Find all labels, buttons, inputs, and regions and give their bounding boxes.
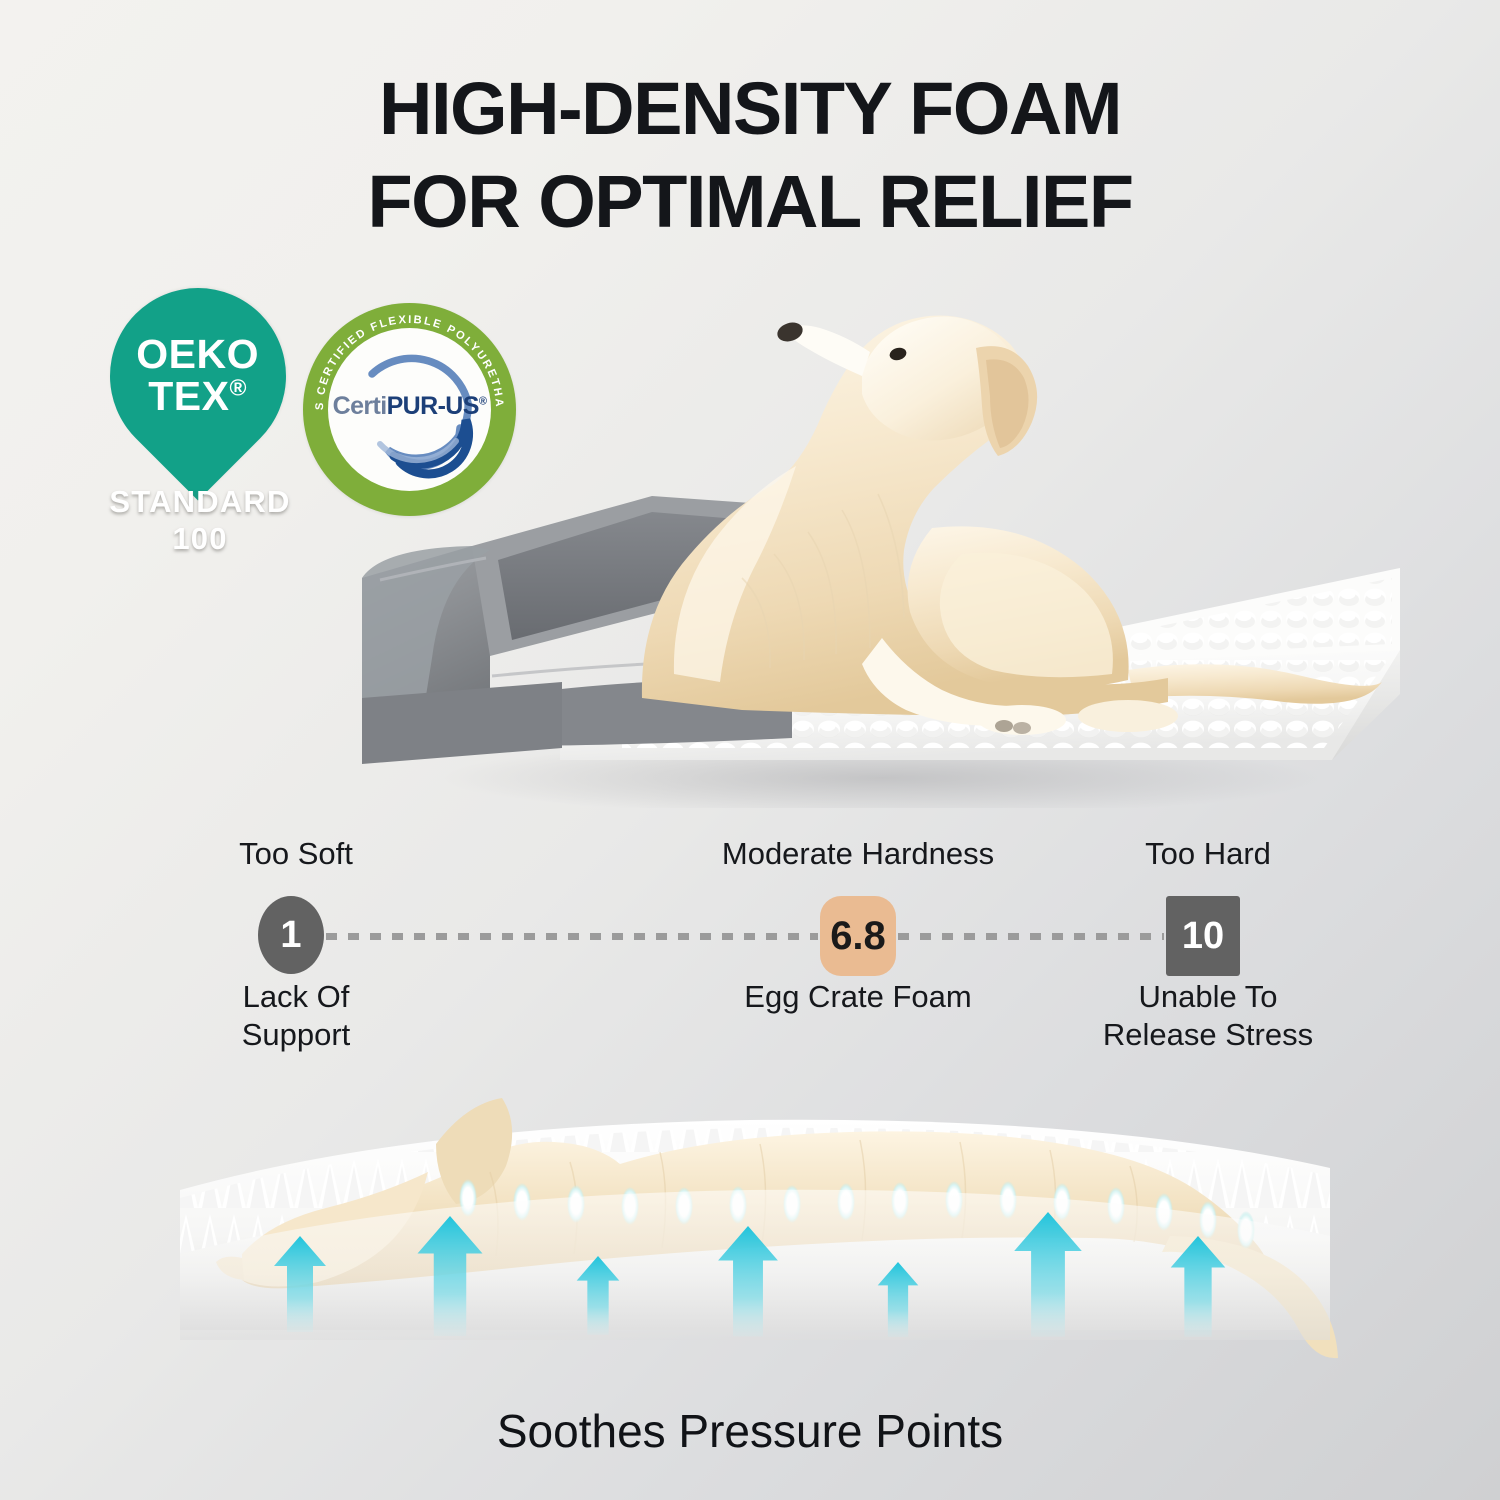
- scale-connector-left: [326, 933, 818, 940]
- oeko-standard-label: STANDARD 100: [82, 484, 318, 557]
- scale-connector-right: [898, 933, 1164, 940]
- scale-top-label-hard: Too Hard: [1098, 836, 1318, 872]
- hero-product-photo: [322, 278, 1402, 808]
- scale-top-label-moderate: Moderate Hardness: [708, 836, 1008, 872]
- infographic-canvas: HIGH-DENSITY FOAM FOR OPTIMAL RELIEF OEK…: [0, 0, 1500, 1500]
- bottom-caption: Soothes Pressure Points: [0, 1404, 1500, 1458]
- scale-bottom-label-hard-line1: Unable To: [1088, 978, 1328, 1016]
- scale-marker-1: 1: [258, 896, 324, 974]
- registered-mark-icon: ®: [230, 374, 247, 400]
- oeko-label: OEKO: [137, 334, 260, 376]
- oeko-tex-wordmark: OEKO TEX®: [137, 334, 260, 418]
- scale-bottom-label-moderate: Egg Crate Foam: [708, 978, 1008, 1016]
- hardness-scale: Too Soft Moderate Hardness Too Hard Lack…: [0, 836, 1500, 1046]
- title-line-2: FOR OPTIMAL RELIEF: [0, 155, 1500, 248]
- standard-line-1: STANDARD: [82, 484, 318, 521]
- standard-line-2: 100: [82, 521, 318, 558]
- scale-marker-6-8: 6.8: [820, 896, 896, 976]
- oeko-tex-badge: OEKO TEX® STANDARD 100: [110, 288, 290, 464]
- tex-label: TEX®: [137, 376, 260, 418]
- pressure-relief-illustration: [150, 1040, 1360, 1385]
- scale-marker-10: 10: [1166, 896, 1240, 976]
- oeko-tex-droplet-icon: OEKO TEX®: [74, 252, 323, 501]
- title-line-1: HIGH-DENSITY FOAM: [379, 67, 1121, 150]
- scale-top-label-soft: Too Soft: [186, 836, 406, 872]
- page-title: HIGH-DENSITY FOAM FOR OPTIMAL RELIEF: [0, 62, 1500, 248]
